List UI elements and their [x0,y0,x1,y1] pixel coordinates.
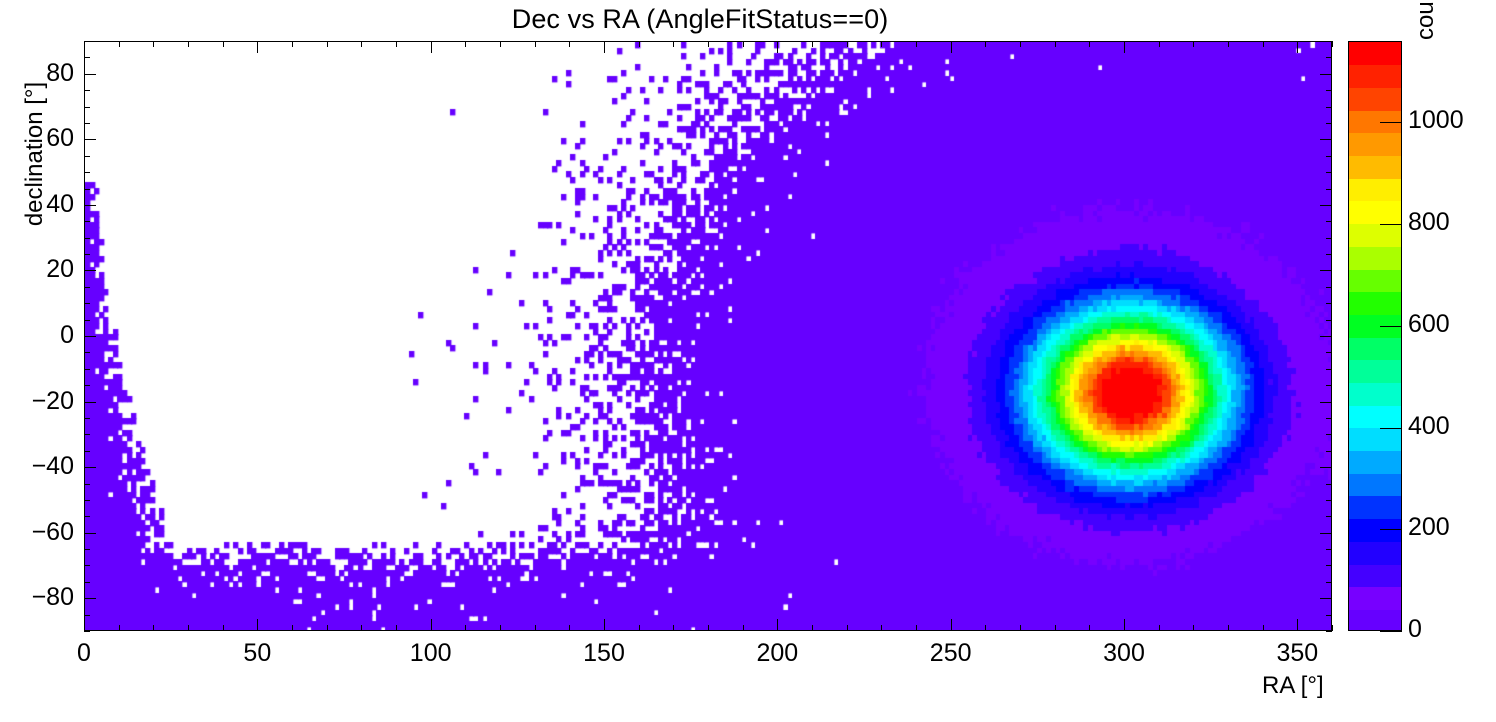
x-tick-major-top [951,41,952,53]
x-tick-minor-top [708,41,709,47]
x-tick-major-top [431,41,432,53]
x-tick-label: 0 [44,639,124,668]
y-tick-minor [84,287,90,288]
y-tick-minor-right [1326,90,1332,91]
colorbar-band [1349,496,1401,519]
x-tick-minor-top [916,41,917,47]
x-tick-major-top [1124,41,1125,53]
y-tick-label: −80 [2,583,74,612]
x-tick-minor [743,625,744,631]
y-tick-minor [84,434,90,435]
y-tick-minor [84,500,90,501]
x-tick-minor-top [188,41,189,47]
x-tick-minor-top [569,41,570,47]
x-tick-minor [985,625,986,631]
x-tick-minor-top [812,41,813,47]
y-tick-minor [84,451,90,452]
y-tick-minor-right [1326,238,1332,239]
x-tick-minor [916,625,917,631]
y-tick-minor [84,90,90,91]
x-tick-minor [812,625,813,631]
y-tick-major [84,74,96,75]
colorbar-band [1349,450,1401,473]
y-tick-major-right [1320,533,1332,534]
x-tick-minor [500,625,501,631]
colorbar-tick-label: 800 [1408,208,1450,237]
x-tick-label: 250 [911,639,991,668]
x-tick-minor [361,625,362,631]
x-tick-minor [881,625,882,631]
colorbar-band [1349,360,1401,383]
colorbar-tick [1380,326,1402,327]
colorbar-band [1349,541,1401,564]
y-axis-title: declination [°] [21,64,49,244]
colorbar-band [1349,337,1401,360]
colorbar-band [1349,178,1401,201]
x-tick-major [777,619,778,631]
x-tick-major [1124,619,1125,631]
x-tick-minor [639,625,640,631]
x-tick-label: 100 [391,639,471,668]
x-tick-major-top [604,41,605,53]
y-tick-minor [84,418,90,419]
x-tick-minor-top [743,41,744,47]
y-tick-minor-right [1326,565,1332,566]
colorbar-band [1349,609,1401,631]
y-tick-major [84,467,96,468]
y-tick-major [84,533,96,534]
colorbar-tick-label: 400 [1408,412,1450,441]
colorbar-band [1349,269,1401,292]
colorbar-band [1349,428,1401,451]
y-tick-minor [84,352,90,353]
y-tick-label: −60 [2,518,74,547]
y-tick-minor [84,320,90,321]
y-tick-minor [84,615,90,616]
y-tick-major-right [1320,598,1332,599]
x-tick-minor-top [361,41,362,47]
x-tick-minor-top [881,41,882,47]
x-tick-major-top [777,41,778,53]
colorbar-band [1349,564,1401,587]
y-tick-minor-right [1326,516,1332,517]
y-tick-major-right [1320,336,1332,337]
x-tick-minor [847,625,848,631]
y-tick-major-right [1320,270,1332,271]
y-tick-minor-right [1326,385,1332,386]
x-tick-minor [396,625,397,631]
x-tick-minor-top [985,41,986,47]
chart-title: Dec vs RA (AngleFitStatus==0) [0,4,1400,35]
y-tick-minor [84,221,90,222]
y-tick-minor [84,172,90,173]
y-tick-major-right [1320,74,1332,75]
x-tick-minor-top [292,41,293,47]
x-tick-minor [569,625,570,631]
colorbar-band [1349,382,1401,405]
y-tick-minor [84,369,90,370]
y-tick-minor-right [1326,615,1332,616]
x-tick-minor [465,625,466,631]
x-tick-major [84,619,85,631]
x-tick-label: 50 [217,639,297,668]
colorbar-band [1349,587,1401,610]
y-tick-minor-right [1326,254,1332,255]
y-tick-minor-right [1326,172,1332,173]
x-tick-minor [188,625,189,631]
y-tick-minor-right [1326,41,1332,42]
colorbar-band [1349,405,1401,428]
plot-frame [84,41,1332,631]
heatmap-canvas [85,42,1332,631]
x-tick-minor [1263,625,1264,631]
x-tick-label: 350 [1257,639,1337,668]
colorbar-band [1349,155,1401,178]
y-tick-minor-right [1326,189,1332,190]
x-tick-minor-top [1332,41,1333,47]
y-tick-minor-right [1326,320,1332,321]
y-tick-minor [84,516,90,517]
y-tick-minor-right [1326,369,1332,370]
x-tick-major [604,619,605,631]
y-tick-minor [84,156,90,157]
y-tick-major-right [1320,402,1332,403]
x-tick-minor-top [1020,41,1021,47]
colorbar-tick-label: 1000 [1408,106,1464,135]
y-tick-minor [84,385,90,386]
colorbar-tick-label: 0 [1408,615,1422,644]
colorbar-tick [1380,428,1402,429]
y-tick-minor-right [1326,57,1332,58]
y-tick-minor-right [1326,434,1332,435]
colorbar-band [1349,224,1401,247]
x-tick-minor [535,625,536,631]
y-tick-minor [84,57,90,58]
x-tick-major [1297,619,1298,631]
y-tick-minor-right [1326,484,1332,485]
y-tick-minor-right [1326,123,1332,124]
colorbar-band [1349,473,1401,496]
y-tick-label: −40 [2,452,74,481]
x-tick-minor-top [535,41,536,47]
y-tick-minor-right [1326,631,1332,632]
y-tick-major [84,598,96,599]
y-tick-minor-right [1326,582,1332,583]
x-tick-minor-top [223,41,224,47]
x-tick-minor [223,625,224,631]
y-tick-minor [84,107,90,108]
x-tick-minor-top [153,41,154,47]
x-tick-minor-top [327,41,328,47]
colorbar-tick [1380,224,1402,225]
x-tick-label: 200 [737,639,817,668]
y-tick-minor-right [1326,107,1332,108]
x-tick-minor [708,625,709,631]
colorbar-band [1349,87,1401,110]
x-tick-minor [292,625,293,631]
x-tick-minor [327,625,328,631]
y-tick-minor [84,582,90,583]
y-tick-minor [84,41,90,42]
x-tick-minor [1020,625,1021,631]
x-tick-label: 300 [1084,639,1164,668]
x-tick-minor [1228,625,1229,631]
x-tick-minor-top [1089,41,1090,47]
y-tick-minor-right [1326,287,1332,288]
x-tick-minor [673,625,674,631]
x-tick-minor-top [1228,41,1229,47]
y-tick-minor-right [1326,221,1332,222]
x-tick-minor-top [1055,41,1056,47]
x-tick-minor [119,625,120,631]
x-tick-major-top [257,41,258,53]
y-tick-minor-right [1326,303,1332,304]
colorbar-band [1349,65,1401,88]
colorbar-tick [1380,529,1402,530]
y-tick-minor [84,123,90,124]
x-tick-minor [153,625,154,631]
y-tick-minor [84,238,90,239]
x-tick-minor-top [500,41,501,47]
y-tick-minor [84,565,90,566]
y-tick-label: −20 [2,387,74,416]
colorbar-tick-label: 600 [1408,310,1450,339]
x-tick-label: 150 [564,639,644,668]
x-tick-minor-top [639,41,640,47]
x-tick-minor-top [465,41,466,47]
y-tick-label: 20 [2,255,74,284]
x-tick-minor-top [673,41,674,47]
y-tick-minor-right [1326,549,1332,550]
y-tick-major-right [1320,139,1332,140]
y-tick-minor-right [1326,352,1332,353]
x-tick-minor [1193,625,1194,631]
colorbar-title: count [1412,0,1440,40]
x-tick-major-top [1297,41,1298,53]
y-tick-minor-right [1326,156,1332,157]
x-tick-minor [1332,625,1333,631]
y-tick-minor [84,484,90,485]
colorbar-band [1349,292,1401,315]
x-tick-minor [1089,625,1090,631]
colorbar-tick-label: 200 [1408,513,1450,542]
y-tick-minor-right [1326,500,1332,501]
x-axis-title: RA [°] [1262,672,1324,700]
y-tick-minor [84,303,90,304]
x-tick-minor-top [119,41,120,47]
x-tick-minor-top [847,41,848,47]
colorbar-tick [1380,631,1402,632]
y-tick-minor [84,189,90,190]
x-tick-major [431,619,432,631]
x-tick-major-top [84,41,85,53]
y-tick-minor-right [1326,451,1332,452]
colorbar-band [1349,201,1401,224]
x-tick-minor [1159,625,1160,631]
colorbar [1348,41,1402,631]
y-tick-minor [84,631,90,632]
x-tick-major [257,619,258,631]
y-tick-major [84,402,96,403]
x-tick-minor-top [1193,41,1194,47]
y-tick-major [84,336,96,337]
y-tick-major [84,270,96,271]
colorbar-band [1349,133,1401,156]
y-tick-major [84,205,96,206]
y-tick-minor [84,254,90,255]
y-tick-major-right [1320,205,1332,206]
y-tick-major [84,139,96,140]
x-tick-minor-top [1263,41,1264,47]
colorbar-band [1349,246,1401,269]
x-tick-minor [1055,625,1056,631]
x-tick-minor-top [396,41,397,47]
x-tick-major [951,619,952,631]
y-tick-minor [84,549,90,550]
y-tick-minor-right [1326,418,1332,419]
colorbar-tick [1380,122,1402,123]
y-tick-major-right [1320,467,1332,468]
x-tick-minor-top [1159,41,1160,47]
colorbar-band [1349,42,1401,65]
y-tick-label: 0 [2,321,74,350]
